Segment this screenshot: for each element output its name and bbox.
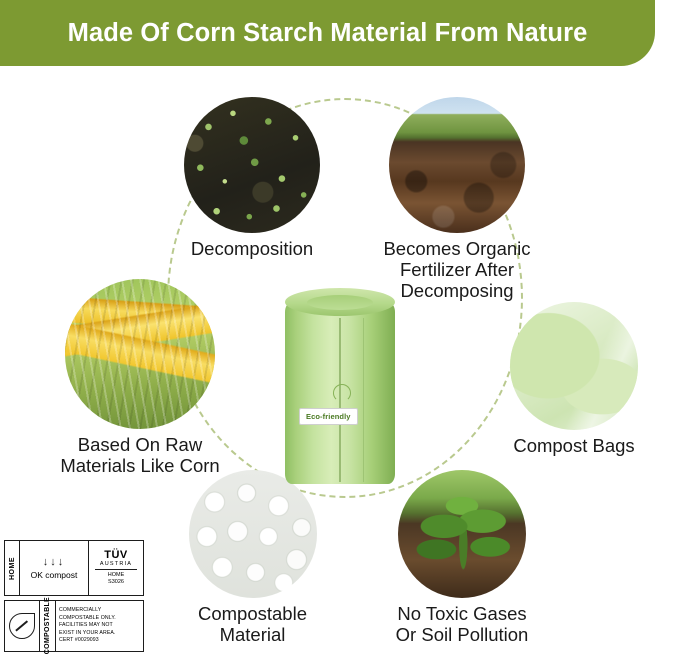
compost-decomposition-photo bbox=[184, 97, 320, 233]
node-compost-bags-label: Compost Bags bbox=[481, 435, 667, 456]
bpi-side-text: COMPOSTABLE bbox=[44, 597, 51, 654]
seedling-in-soil-photo bbox=[398, 470, 526, 598]
ok-compost-side-text: HOME bbox=[9, 557, 16, 580]
soil-field-photo bbox=[389, 97, 525, 233]
certification-badges: HOME ↓↓↓ OK compost TÜV AUSTRIA HOME S30… bbox=[4, 540, 152, 652]
leaf-icon bbox=[9, 613, 35, 639]
down-arrows-icon: ↓↓↓ bbox=[43, 557, 66, 568]
tuv-austria-mark: TÜV AUSTRIA HOME S3026 bbox=[89, 541, 143, 595]
tuv-austria-text: AUSTRIA bbox=[100, 561, 132, 568]
center-product-image: Eco-friendly bbox=[285, 288, 395, 484]
bag-roll-seam-secondary bbox=[363, 318, 364, 482]
node-no-toxic-gases-label: No Toxic Gases Or Soil Pollution bbox=[364, 603, 560, 645]
node-raw-materials-corn: Based On Raw Materials Like Corn bbox=[31, 279, 249, 476]
node-compostable-material: Compostable Material bbox=[160, 470, 345, 645]
node-raw-materials-corn-label: Based On Raw Materials Like Corn bbox=[31, 434, 249, 476]
eco-friendly-tag: Eco-friendly bbox=[299, 408, 358, 425]
node-decomposition-label: Decomposition bbox=[171, 238, 333, 259]
green-compost-bag-roll-photo bbox=[510, 302, 638, 430]
bag-roll-top bbox=[285, 288, 395, 316]
header-banner: Made Of Corn Starch Material From Nature bbox=[0, 0, 655, 66]
bpi-side-strip: COMPOSTABLE bbox=[40, 601, 56, 651]
page-title: Made Of Corn Starch Material From Nature bbox=[68, 19, 588, 48]
node-compostable-material-label: Compostable Material bbox=[160, 603, 345, 645]
ok-compost-text: OK compost bbox=[31, 570, 78, 580]
node-compost-bags: Compost Bags bbox=[481, 302, 667, 456]
ok-compost-mark: ↓↓↓ OK compost bbox=[20, 541, 89, 595]
bpi-disclaimer-text: COMMERCIALLY COMPOSTABLE ONLY. FACILITIE… bbox=[56, 601, 143, 651]
bag-roll-core bbox=[307, 295, 373, 310]
node-organic-fertilizer: Becomes Organic Fertilizer After Decompo… bbox=[352, 97, 562, 301]
tuv-cert-line1: HOME bbox=[108, 572, 125, 579]
white-resin-pellets-photo bbox=[189, 470, 317, 598]
tuv-divider bbox=[95, 569, 137, 570]
tuv-cert-line2: S3026 bbox=[108, 579, 124, 586]
tuv-logo-text: TÜV bbox=[104, 550, 128, 561]
node-decomposition: Decomposition bbox=[171, 97, 333, 259]
ok-compost-side-strip: HOME bbox=[5, 541, 20, 595]
ok-compost-home-badge: HOME ↓↓↓ OK compost TÜV AUSTRIA HOME S30… bbox=[4, 540, 144, 596]
corn-cobs-field-photo bbox=[65, 279, 215, 429]
bpi-compostable-badge: COMPOSTABLE COMMERCIALLY COMPOSTABLE ONL… bbox=[4, 600, 144, 652]
bag-tie-handle-icon bbox=[333, 384, 351, 402]
node-no-toxic-gases: No Toxic Gases Or Soil Pollution bbox=[364, 470, 560, 645]
bpi-leaf-box bbox=[5, 601, 40, 651]
